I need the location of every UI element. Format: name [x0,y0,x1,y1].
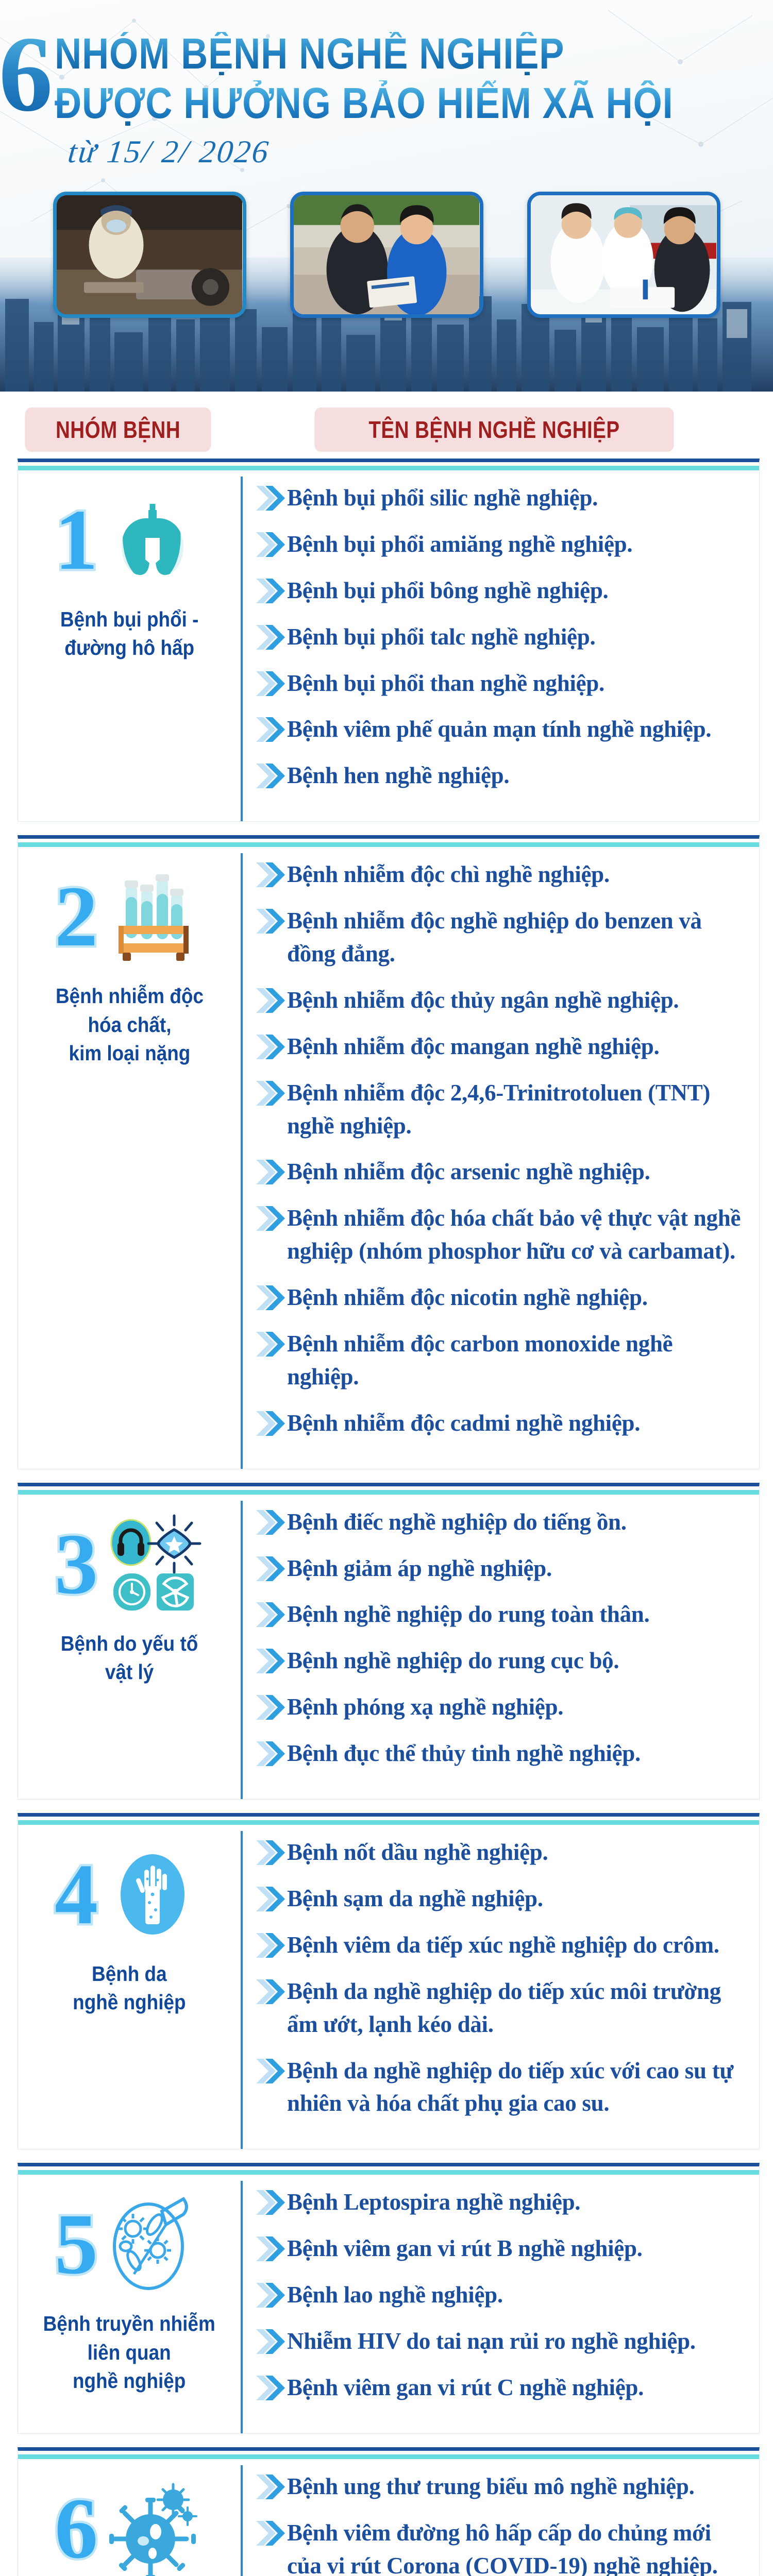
disease-list: Bệnh nhiễm độc chì nghề nghiệp. Bệnh nhi… [241,853,759,1468]
column-header-disease: TÊN BỆNH NGHỀ NGHIỆP [314,408,674,452]
double-chevron-icon [254,2374,287,2402]
list-item: Bệnh nhiễm độc 2,4,6-Trinitrotoluen (TNT… [254,1077,746,1143]
disease-name: Bệnh nhiễm độc 2,4,6-Trinitrotoluen (TNT… [287,1077,746,1143]
test-tubes-rack-icon [101,865,204,968]
list-item: Bệnh phóng xạ nghề nghiệp. [254,1691,746,1724]
double-chevron-icon [254,1885,287,1913]
group-left-cell: 4 [18,1831,241,2149]
list-item: Bệnh nhiễm độc hóa chất bảo vệ thực vật … [254,1202,746,1268]
double-chevron-icon [254,860,287,889]
group-label: Bệnh da nghề nghiệp [73,1960,186,2017]
list-item: Bệnh lao nghề nghiệp. [254,2279,746,2312]
double-chevron-icon [254,1330,287,1359]
disease-group-card: 3 [18,1483,760,1800]
disease-name: Bệnh bụi phổi than nghề nghiệp. [287,667,604,700]
disease-name: Bệnh nhiễm độc nghề nghiệp do benzen và … [287,905,746,971]
double-chevron-icon [254,986,287,1015]
double-chevron-icon [254,2057,287,2086]
list-item: Bệnh bụi phổi talc nghề nghiệp. [254,621,746,654]
double-chevron-icon [254,669,287,698]
group-number-badge: 6 [55,2485,98,2572]
disease-list: Bệnh nốt dầu nghề nghiệp. Bệnh sạm da ng… [241,1831,759,2149]
disease-group-card: 5 Bệnh truyền [18,2163,760,2433]
disease-name: Bệnh điếc nghề nghiệp do tiếng ồn. [287,1506,627,1539]
disease-name: Bệnh da nghề nghiệp do tiếp xúc với cao … [287,2055,746,2121]
disease-list: Bệnh Leptospira nghề nghiệp. Bệnh viêm g… [241,2181,759,2433]
group-number-badge: 3 [55,1521,98,1607]
lungs-icon [101,488,204,591]
group-left-cell: 2 [18,853,241,1468]
list-item: Bệnh viêm đường hô hấp cấp do chủng mới … [254,2517,746,2576]
list-item: Bệnh nhiễm độc nghề nghiệp do benzen và … [254,905,746,971]
double-chevron-icon [254,1409,287,1438]
disease-name: Bệnh sạm da nghề nghiệp. [287,1883,543,1916]
group-left-cell: 1 Bệnh bụi phổi - đường hô hấp [18,477,241,821]
list-item: Bệnh nhiễm độc mangan nghề nghiệp. [254,1030,746,1063]
disease-name: Nhiễm HIV do tai nạn rủi ro nghề nghiệp. [287,2325,696,2358]
disease-name: Bệnh viêm gan vi rút B nghề nghiệp. [287,2232,643,2265]
double-chevron-icon [254,1693,287,1722]
effective-date-text: từ 15/ 2/ 2026 [66,134,773,171]
bacteria-petri-dish-icon [101,2193,204,2296]
disease-name: Bệnh nhiễm độc nicotin nghề nghiệp. [287,1281,648,1314]
double-chevron-icon [254,484,287,513]
double-chevron-icon [254,1647,287,1675]
list-item: Bệnh nghề nghiệp do rung cục bộ. [254,1645,746,1677]
list-item: Bệnh viêm gan vi rút B nghề nghiệp. [254,2232,746,2265]
double-chevron-icon [254,1032,287,1061]
group-left-cell: 3 [18,1501,241,1799]
list-item: Bệnh nhiễm độc thủy ngân nghề nghiệp. [254,984,746,1017]
list-item: Bệnh hen nghề nghiệp. [254,759,746,792]
infographic-header: 6 NHÓM BỆNH NGHỀ NGHIỆP ĐƯỢC HƯỞNG BẢO H… [0,0,773,392]
column-header-group: NHÓM BỆNH [25,408,211,452]
disease-name: Bệnh nhiễm độc chì nghề nghiệp. [287,858,610,891]
list-item: Bệnh nhiễm độc chì nghề nghiệp. [254,858,746,891]
disease-name: Bệnh nhiễm độc mangan nghề nghiệp. [287,1030,659,1063]
list-item: Bệnh Leptospira nghề nghiệp. [254,2186,746,2219]
group-left-cell: 5 Bệnh truyền [18,2181,241,2433]
double-chevron-icon [254,577,287,605]
double-chevron-icon [254,2281,287,2310]
double-chevron-icon [254,1079,287,1108]
list-item: Bệnh nhiễm độc carbon monoxide nghề nghi… [254,1328,746,1394]
disease-name: Bệnh nhiễm độc thủy ngân nghề nghiệp. [287,984,679,1017]
double-chevron-icon [254,1931,287,1960]
worker-repairing-machinery-photo [53,192,246,318]
disease-name: Bệnh Leptospira nghề nghiệp. [287,2186,580,2219]
double-chevron-icon [254,1508,287,1537]
disease-list: Bệnh bụi phổi silic nghề nghiệp. Bệnh bụ… [241,477,759,821]
disease-list: Bệnh ung thư trung biểu mô nghề nghiệp. … [241,2465,759,2576]
group-left-cell: 6 [18,2465,241,2576]
title-line-2: ĐƯỢC HƯỞNG BẢO HIỂM XÃ HỘI [55,80,674,126]
double-chevron-icon [254,907,287,936]
list-item: Bệnh bụi phổi than nghề nghiệp. [254,667,746,700]
list-item: Bệnh nhiễm độc arsenic nghề nghiệp. [254,1156,746,1189]
double-chevron-icon [254,715,287,744]
double-chevron-icon [254,761,287,790]
disease-name: Bệnh nghề nghiệp do rung toàn thân. [287,1598,649,1631]
physical-factors-icons [101,1513,204,1616]
disease-group-card: 4 [18,1813,760,2149]
double-chevron-icon [254,2188,287,2217]
list-item: Bệnh da nghề nghiệp do tiếp xúc môi trườ… [254,1975,746,2041]
double-chevron-icon [254,1600,287,1629]
header-photo-strip [0,192,773,318]
double-chevron-icon [254,2472,287,2501]
list-item: Nhiễm HIV do tai nạn rủi ro nghề nghiệp. [254,2325,746,2358]
disease-group-card: 6 [18,2447,760,2576]
disease-name: Bệnh đục thể thủy tinh nghề nghiệp. [287,1737,641,1770]
double-chevron-icon [254,1158,287,1187]
social-insurance-officer-with-citizen-photo [290,192,483,318]
disease-name: Bệnh lao nghề nghiệp. [287,2279,503,2312]
list-item: Bệnh ung thư trung biểu mô nghề nghiệp. [254,2470,746,2503]
medical-staff-drawing-blood-photo [527,192,720,318]
virus-icon [101,2477,204,2576]
list-item: Bệnh giảm áp nghề nghiệp. [254,1552,746,1585]
disease-name: Bệnh nhiễm độc carbon monoxide nghề nghi… [287,1328,746,1394]
disease-name: Bệnh nhiễm độc hóa chất bảo vệ thực vật … [287,1202,746,1268]
double-chevron-icon [254,1739,287,1768]
group-number-badge: 4 [55,1851,98,1938]
group-label: Bệnh bụi phổi - đường hô hấp [60,605,199,663]
double-chevron-icon [254,1283,287,1312]
double-chevron-icon [254,2327,287,2356]
title-line-1: NHÓM BỆNH NGHỀ NGHIỆP [55,32,674,75]
group-number-badge: 5 [55,2201,98,2287]
double-chevron-icon [254,1554,287,1583]
disease-name: Bệnh nhiễm độc arsenic nghề nghiệp. [287,1156,650,1189]
disease-name: Bệnh hen nghề nghiệp. [287,759,509,792]
double-chevron-icon [254,1204,287,1233]
list-item: Bệnh da nghề nghiệp do tiếp xúc với cao … [254,2055,746,2121]
list-item: Bệnh bụi phổi amiăng nghề nghiệp. [254,528,746,561]
double-chevron-icon [254,1977,287,2006]
disease-group-card: 2 [18,835,760,1469]
disease-name: Bệnh viêm đường hô hấp cấp do chủng mới … [287,2517,746,2576]
group-label: Bệnh nhiễm độc hóa chất, kim loại nặng [55,982,203,1067]
disease-name: Bệnh viêm gan vi rút C nghề nghiệp. [287,2371,644,2404]
disease-name: Bệnh viêm phế quản mạn tính nghề nghiệp. [287,713,711,746]
disease-name: Bệnh bụi phổi talc nghề nghiệp. [287,621,595,654]
disease-name: Bệnh bụi phổi amiăng nghề nghiệp. [287,528,632,561]
disease-name: Bệnh nghề nghiệp do rung cục bộ. [287,1645,619,1677]
header-title-block: 6 NHÓM BỆNH NGHỀ NGHIỆP ĐƯỢC HƯỞNG BẢO H… [0,25,773,171]
double-chevron-icon [254,530,287,559]
list-item: Bệnh đục thể thủy tinh nghề nghiệp. [254,1737,746,1770]
list-item: Bệnh nghề nghiệp do rung toàn thân. [254,1598,746,1631]
list-item: Bệnh nhiễm độc nicotin nghề nghiệp. [254,1281,746,1314]
disease-name: Bệnh viêm da tiếp xúc nghề nghiệp do crô… [287,1929,719,1962]
disease-name: Bệnh da nghề nghiệp do tiếp xúc môi trườ… [287,1975,746,2041]
list-item: Bệnh nhiễm độc cadmi nghề nghiệp. [254,1407,746,1440]
list-item: Bệnh bụi phổi bông nghề nghiệp. [254,574,746,607]
disease-group-card: 1 Bệnh bụi phổi - đường hô hấp [18,459,760,822]
disease-name: Bệnh nhiễm độc cadmi nghề nghiệp. [287,1407,640,1440]
disease-name: Bệnh bụi phổi silic nghề nghiệp. [287,482,598,515]
disease-name: Bệnh nốt dầu nghề nghiệp. [287,1836,548,1869]
skin-hand-icon [101,1843,204,1946]
double-chevron-icon [254,1838,287,1867]
disease-name: Bệnh phóng xạ nghề nghiệp. [287,1691,563,1724]
group-number-badge: 2 [55,873,98,960]
double-chevron-icon [254,2519,287,2548]
column-headers-row: NHÓM BỆNH TÊN BỆNH NGHỀ NGHIỆP [0,392,773,459]
disease-name: Bệnh ung thư trung biểu mô nghề nghiệp. [287,2470,695,2503]
disease-list: Bệnh điếc nghề nghiệp do tiếng ồn. Bệnh … [241,1501,759,1799]
disease-name: Bệnh bụi phổi bông nghề nghiệp. [287,574,609,607]
double-chevron-icon [254,623,287,652]
group-number-badge: 1 [55,497,98,583]
list-item: Bệnh viêm phế quản mạn tính nghề nghiệp. [254,713,746,746]
list-item: Bệnh sạm da nghề nghiệp. [254,1883,746,1916]
list-item: Bệnh viêm da tiếp xúc nghề nghiệp do crô… [254,1929,746,1962]
list-item: Bệnh điếc nghề nghiệp do tiếng ồn. [254,1506,746,1539]
list-item: Bệnh nốt dầu nghề nghiệp. [254,1836,746,1869]
list-item: Bệnh viêm gan vi rút C nghề nghiệp. [254,2371,746,2404]
list-item: Bệnh bụi phổi silic nghề nghiệp. [254,482,746,515]
big-number-six: 6 [0,28,51,121]
group-label: Bệnh do yếu tố vật lý [61,1630,198,1687]
disease-name: Bệnh giảm áp nghề nghiệp. [287,1552,552,1585]
double-chevron-icon [254,2234,287,2263]
group-label: Bệnh truyền nhiễm liên quan nghề nghiệp [43,2310,215,2395]
